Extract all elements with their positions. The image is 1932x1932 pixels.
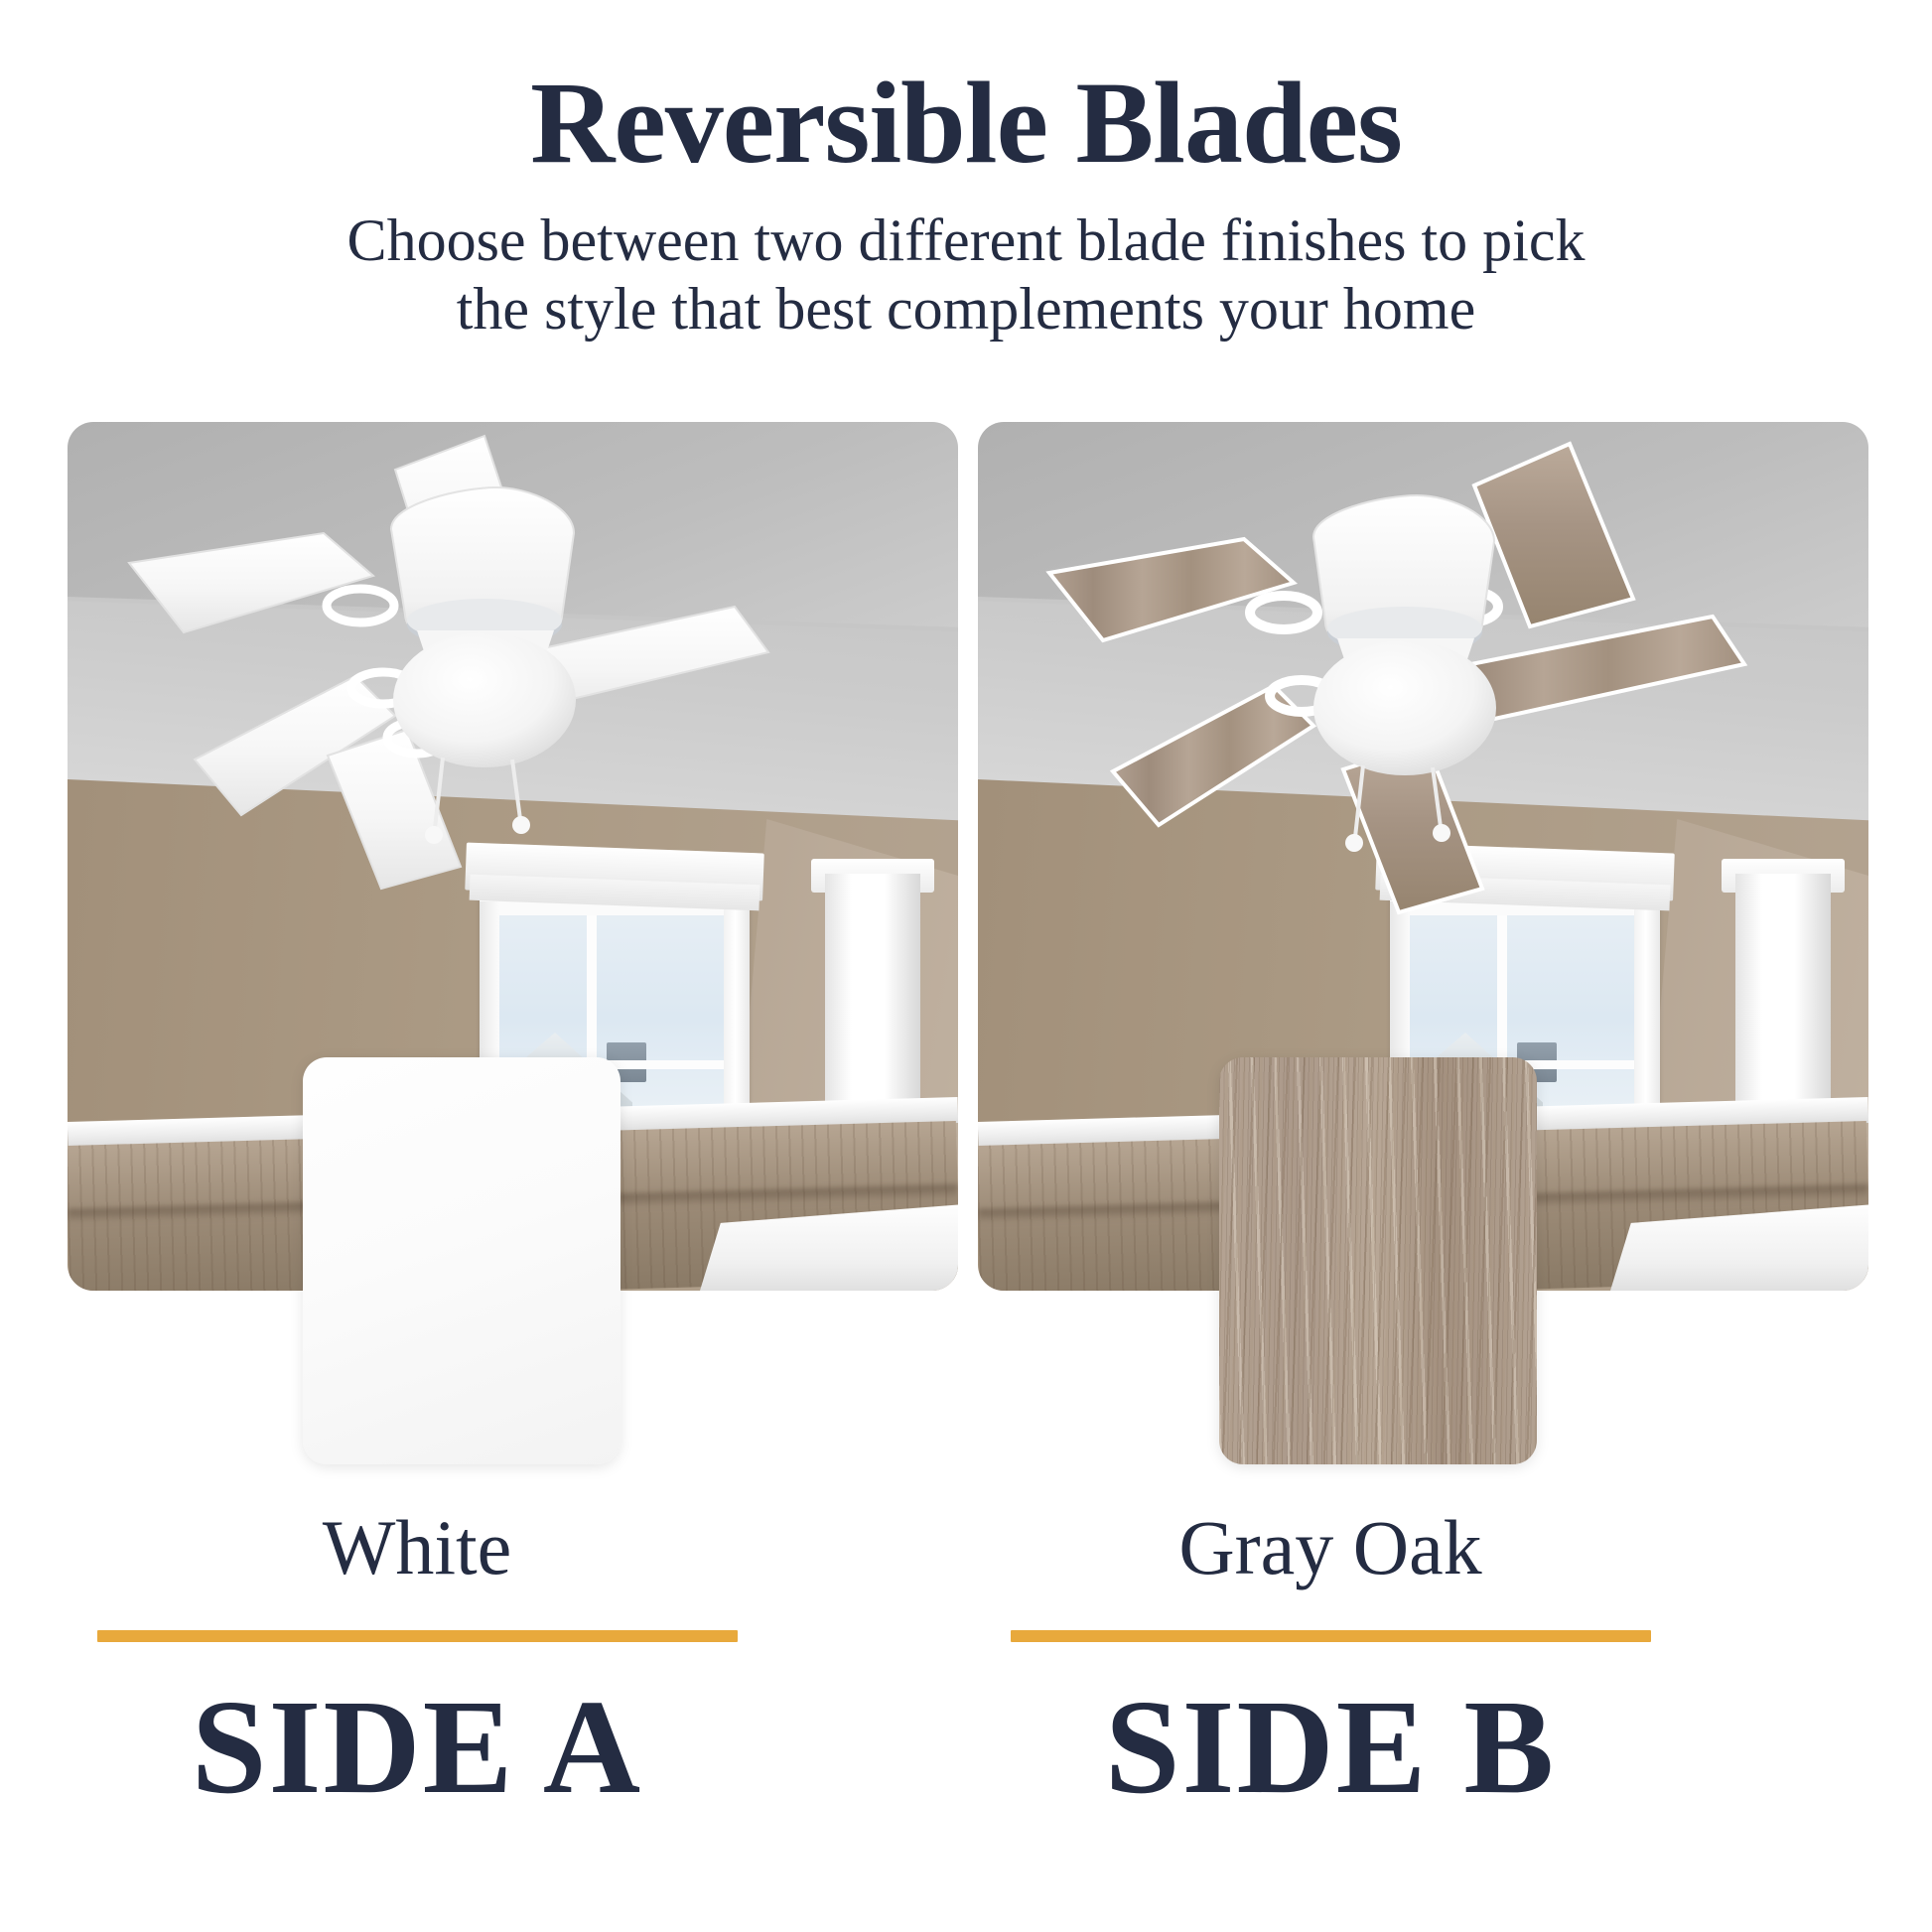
accent-bar-left (97, 1630, 738, 1642)
page-header: Reversible Blades Choose between two dif… (0, 0, 1932, 345)
side-label-b: SIDE B (913, 1680, 1747, 1815)
caption-side-a: White SIDE A (0, 1509, 834, 1815)
subtitle-line-2: the style that best complements your hom… (0, 275, 1932, 345)
page-title: Reversible Blades (0, 62, 1932, 185)
side-label-a: SIDE A (0, 1680, 834, 1815)
gray-oak-blade-swatch (1219, 1057, 1537, 1464)
page-subtitle: Choose between two different blade finis… (0, 207, 1932, 345)
subtitle-line-1: Choose between two different blade finis… (0, 207, 1932, 276)
finish-name-gray-oak: Gray Oak (913, 1509, 1747, 1587)
comparison-panels (0, 422, 1932, 1291)
caption-side-b: Gray Oak SIDE B (913, 1509, 1747, 1815)
accent-bar-right (1011, 1630, 1651, 1642)
finish-name-white: White (0, 1509, 834, 1587)
white-blade-swatch (303, 1057, 621, 1464)
